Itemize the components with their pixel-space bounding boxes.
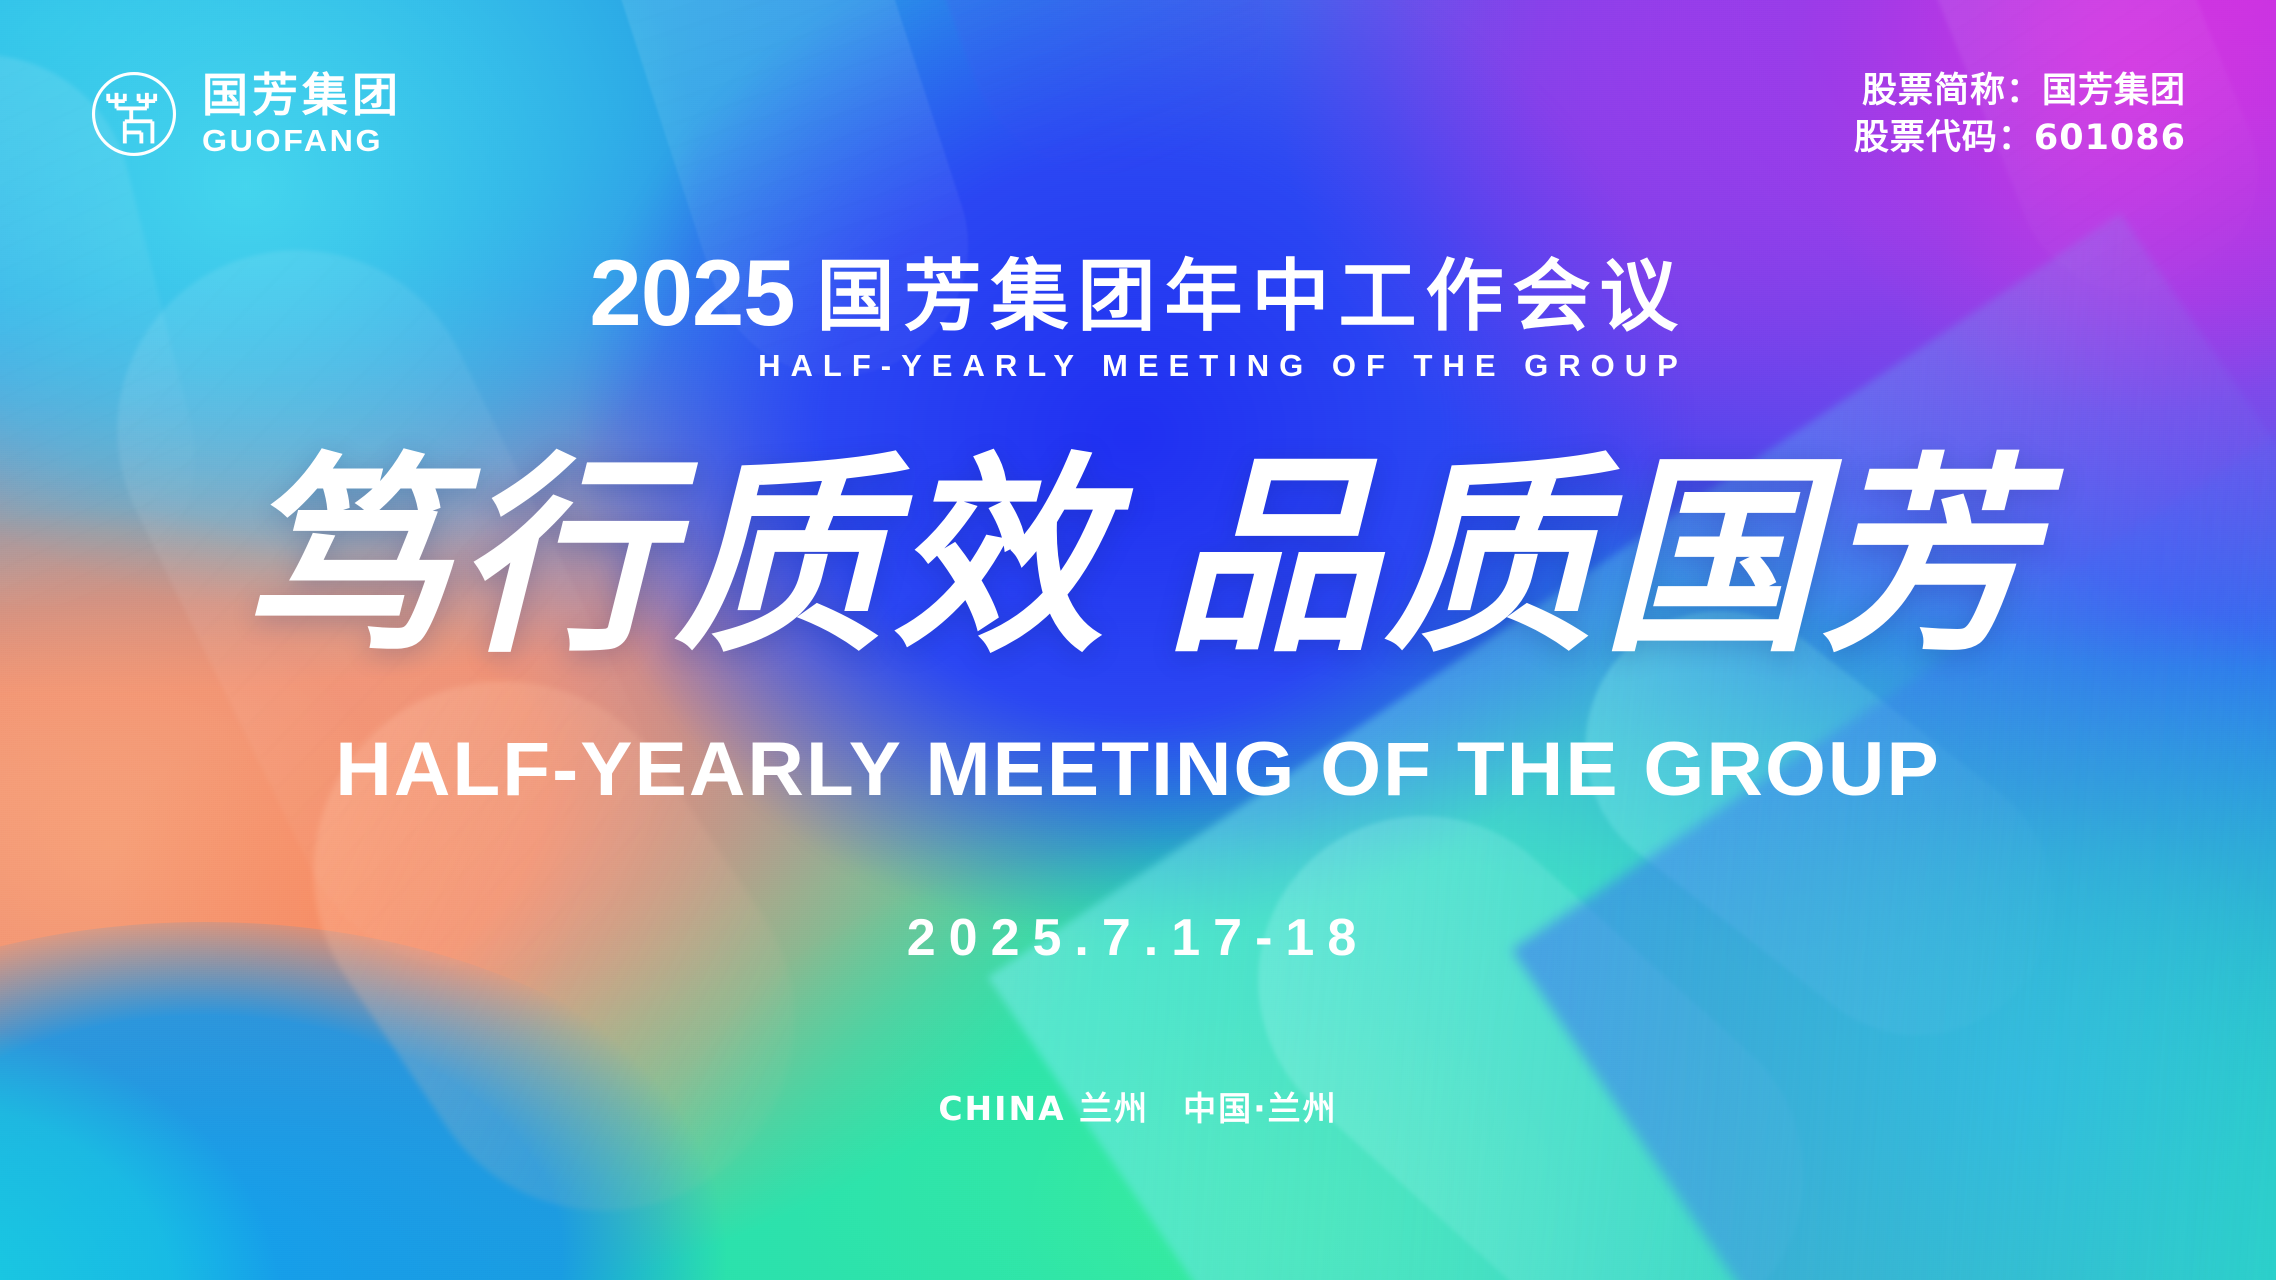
headline-slogan: 笃行质效品质国芳 xyxy=(0,452,2276,664)
deer-emblem-circle-icon xyxy=(88,68,180,160)
brand-wordmark: 国芳集团 GUOFANG xyxy=(202,72,402,156)
stock-info: 股票简称：国芳集团 股票代码：601086 xyxy=(1854,68,2186,162)
banner-content: 国芳集团 GUOFANG 股票简称：国芳集团 股票代码：601086 2025 … xyxy=(0,0,2276,1280)
brand-name-en: GUOFANG xyxy=(202,125,410,156)
brand-name-cn: 国芳集团 xyxy=(202,72,402,118)
event-title-line: 2025 国芳集团年中工作会议 xyxy=(589,250,1686,336)
conference-banner: 国芳集团 GUOFANG 股票简称：国芳集团 股票代码：601086 2025 … xyxy=(0,0,2276,1280)
event-location-en: CHINA 兰州 xyxy=(938,1089,1149,1128)
event-location-cn: 中国·兰州 xyxy=(1183,1089,1338,1128)
stock-code: 股票代码：601086 xyxy=(1854,115,2186,162)
headline-part-2: 品质国芳 xyxy=(1166,434,2038,681)
event-location: CHINA 兰州中国·兰州 xyxy=(0,1082,2276,1130)
event-date: 2025.7.17-18 xyxy=(0,908,2276,968)
event-title-en: HALF-YEARLY MEETING OF THE GROUP xyxy=(758,348,1688,384)
event-title-cn: 国芳集团年中工作会议 xyxy=(817,258,1687,336)
event-title-block: 2025 国芳集团年中工作会议 HALF-YEARLY MEETING OF T… xyxy=(0,250,2276,384)
stock-abbreviation: 股票简称：国芳集团 xyxy=(1854,68,2186,115)
headline-subtitle-en: HALF-YEARLY MEETING OF THE GROUP xyxy=(0,726,2276,813)
event-title-year: 2025 xyxy=(589,250,794,336)
headline-part-1: 笃行质效 xyxy=(238,434,1110,681)
brand-logo: 国芳集团 GUOFANG xyxy=(88,68,402,160)
